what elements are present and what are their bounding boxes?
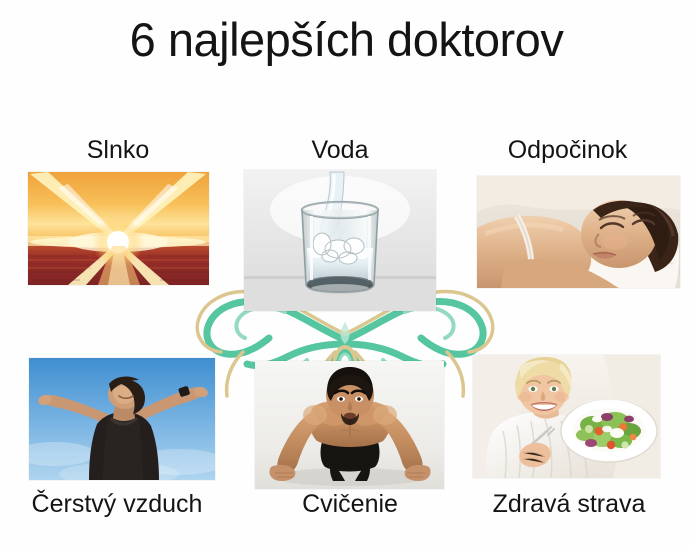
caption-slnko: Slnko	[18, 138, 218, 163]
tile-zdrava-strava[interactable]	[473, 355, 660, 478]
tile-slnko[interactable]	[28, 172, 209, 285]
woman-sleeping-on-pillow-photo	[477, 176, 680, 288]
person-arms-outstretched-blue-sky-photo	[29, 358, 215, 480]
tile-cvicenie[interactable]	[255, 361, 444, 489]
caption-voda: Voda	[240, 138, 440, 163]
tile-cerstvy-vzduch[interactable]	[29, 358, 215, 480]
tile-voda[interactable]	[244, 170, 436, 311]
page-title: 6 najlepších doktorov	[0, 14, 693, 67]
caption-cerstvy-vzduch: Čerstvý vzduch	[3, 492, 231, 517]
caption-zdrava-strava: Zdravá strava	[455, 492, 683, 517]
caption-cvicenie: Cvičenie	[250, 492, 450, 517]
tile-odpocinok[interactable]	[477, 176, 680, 288]
man-doing-pushups-photo	[255, 361, 444, 489]
caption-odpocinok: Odpočinok	[455, 138, 680, 163]
sunset-over-ocean-photo	[28, 172, 209, 285]
woman-holding-salad-plate-photo	[473, 355, 660, 478]
glass-of-water-being-poured-photo	[244, 170, 436, 311]
poster-canvas: 6 najlepších doktorov	[0, 0, 693, 547]
